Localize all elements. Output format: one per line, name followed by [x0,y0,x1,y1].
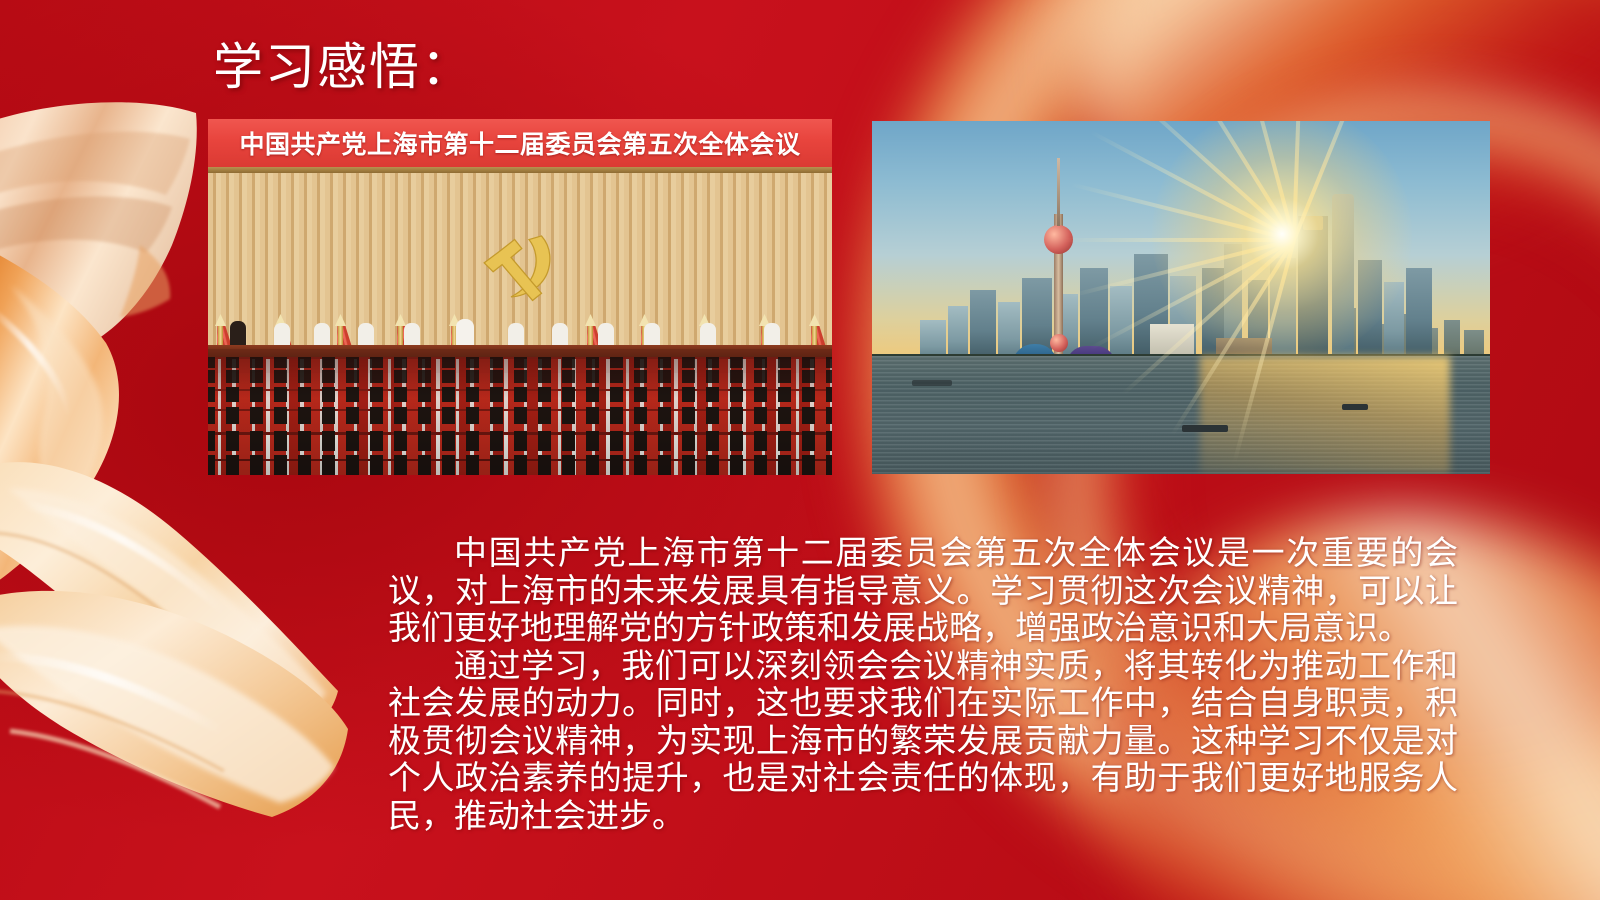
skyline-photo [872,121,1490,474]
paragraph: 通过学习，我们可以深刻领会会议精神实质，将其转化为推动工作和社会发展的动力。同时… [388,649,1458,837]
stage-top-trim [208,167,832,173]
cargo-boat [1342,404,1368,410]
page-title: 学习感悟： [213,40,473,95]
presidium-row [208,315,832,349]
conference-banner: 中国共产党上海市第十二届委员会第五次全体会议 [208,119,832,167]
study-reflection-text: 中国共产党上海市第十二届委员会第五次全体会议是一次重要的会议，对上海市的未来发展… [388,536,1458,836]
cargo-boat [912,380,952,386]
conference-photo [208,119,832,475]
slide-canvas: 学习感悟： [0,0,1600,900]
paragraph: 中国共产党上海市第十二届委员会第五次全体会议是一次重要的会议，对上海市的未来发展… [388,536,1458,649]
audience-seating [208,357,832,475]
cargo-boat [1182,425,1228,432]
conference-banner-text: 中国共产党上海市第十二届委员会第五次全体会议 [239,125,800,161]
hammer-and-sickle-emblem [475,227,565,313]
